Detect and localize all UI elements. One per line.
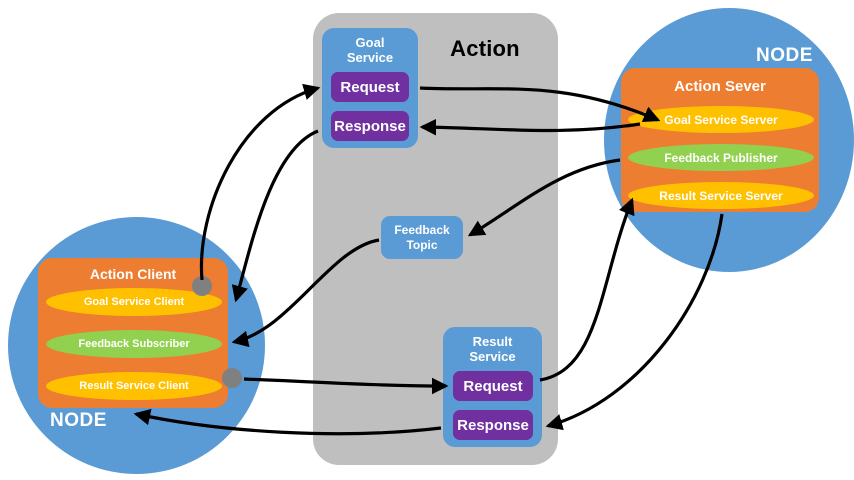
result-service-box: Result Service Request Response (443, 327, 542, 447)
feedback-topic-box: Feedback Topic (381, 216, 463, 259)
junction-dot-goal-client (192, 276, 212, 296)
feedback-topic-line1: Feedback (394, 223, 449, 237)
goal-service-request-box[interactable]: Request (331, 72, 409, 102)
goal-service-box: Goal Service Request Response (322, 28, 418, 148)
result-service-response-box[interactable]: Response (453, 410, 533, 440)
pill-feedback-subscriber[interactable]: Feedback Subscriber (46, 330, 222, 358)
action-server-panel: Action Sever Goal Service Server Feedbac… (621, 68, 819, 212)
goal-service-title-line1: Goal (356, 35, 385, 50)
result-service-request-box[interactable]: Request (453, 371, 533, 401)
goal-service-response-box[interactable]: Response (331, 111, 409, 141)
edge-goal-response-to-client (236, 131, 318, 300)
pill-goal-service-server[interactable]: Goal Service Server (628, 106, 814, 133)
result-service-title: Result Service (443, 334, 542, 364)
result-service-title-line2: Service (469, 349, 515, 364)
goal-service-title: Goal Service (322, 35, 418, 65)
diagram-canvas: Action NODE Action Client Goal Service C… (0, 0, 854, 480)
goal-service-title-line2: Service (347, 50, 393, 65)
result-service-title-line1: Result (473, 334, 513, 349)
action-container-label: Action (425, 36, 545, 62)
pill-result-service-server[interactable]: Result Service Server (628, 182, 814, 209)
feedback-topic-line2: Topic (406, 238, 437, 252)
feedback-topic-label: Feedback Topic (394, 223, 449, 253)
pill-result-service-client[interactable]: Result Service Client (46, 372, 222, 400)
junction-dot-result-client (222, 368, 242, 388)
node-label-client: NODE (50, 410, 107, 432)
pill-feedback-publisher[interactable]: Feedback Publisher (628, 144, 814, 171)
node-label-server: NODE (756, 45, 813, 67)
action-server-title: Action Sever (621, 78, 819, 95)
